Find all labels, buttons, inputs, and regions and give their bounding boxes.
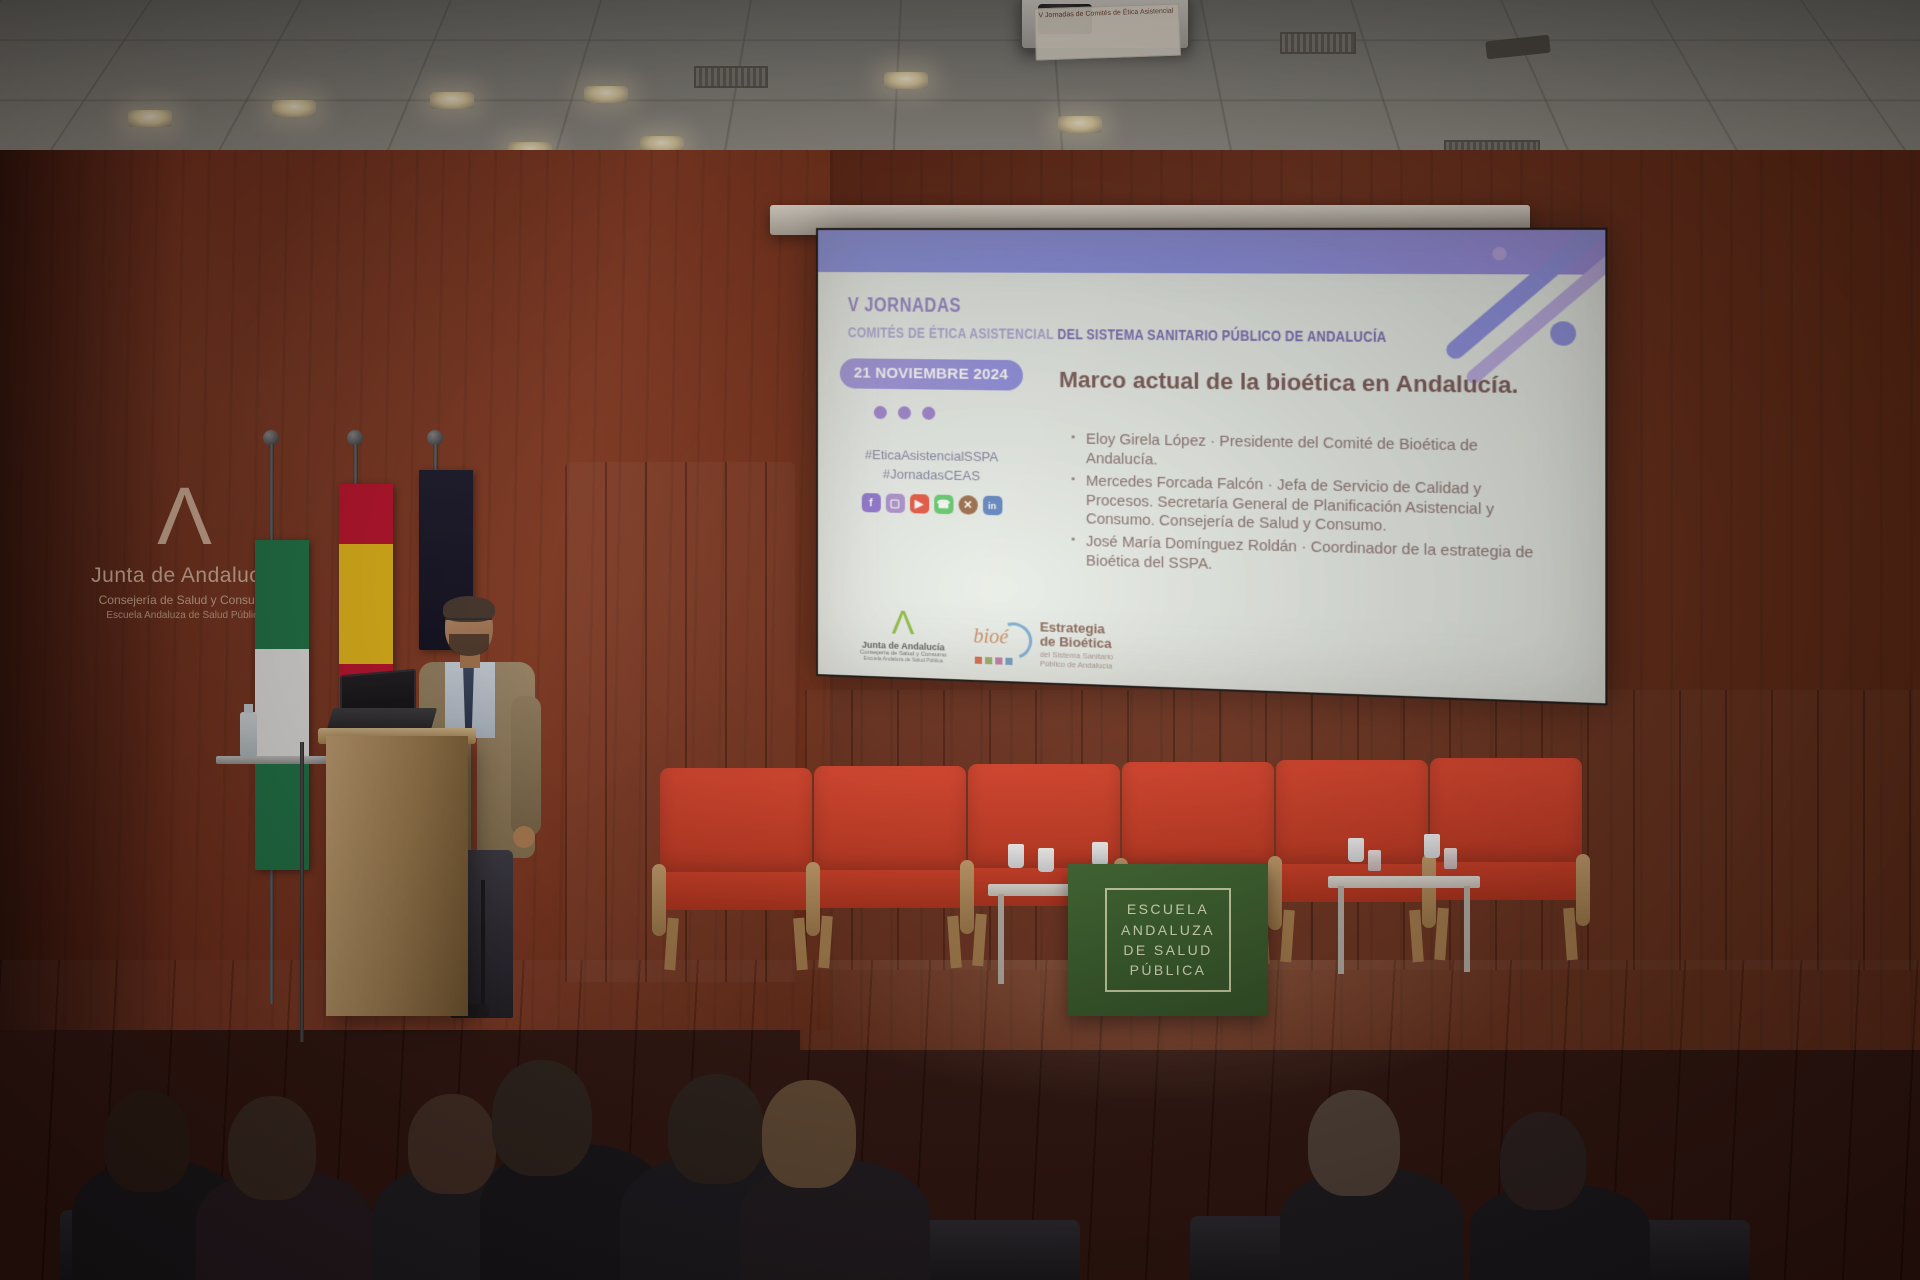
list-item: Mercedes Forcada Falcón · Jefa de Servic… [1071, 472, 1533, 541]
slide-subtitle-light: COMITÉS DE ÉTICA ASISTENCIAL [848, 324, 1054, 343]
sign-line-1: ESCUELA [1121, 899, 1215, 919]
ceiling-light-5 [884, 72, 928, 89]
slide-heading: Marco actual de la bioética en Andalucía… [1059, 367, 1531, 401]
slide-dot-1 [874, 406, 887, 419]
facebook-icon: f [861, 493, 880, 513]
ceiling-light-2 [272, 100, 316, 117]
water-bottle [240, 712, 257, 758]
stage-chair-2 [806, 766, 974, 956]
slide-decoration [1416, 230, 1605, 390]
audience-head-8 [1500, 1112, 1586, 1210]
chair-arm-right [1576, 854, 1590, 926]
slide-dot-row [874, 406, 935, 420]
linkedin-icon: in [982, 496, 1001, 516]
slide-subtitle-dark: DEL SISTEMA SANITARIO PÚBLICO DE ANDALUC… [1057, 326, 1386, 346]
mic-shelf [216, 756, 328, 764]
side-table-right-leg-2 [1464, 886, 1470, 972]
instagram-icon: ▢ [885, 494, 904, 514]
speaker-hand [513, 826, 535, 848]
slide-dot-2 [898, 406, 911, 419]
chair-arm-left [960, 860, 974, 932]
slide-social-icons: f ▢ ▶ ☎ ✕ in [840, 493, 1024, 516]
projector-label: V Jornadas de Comités de Ética Asistenci… [1034, 3, 1181, 60]
lectern-shading [326, 736, 468, 1016]
deco-dot-large [1550, 321, 1576, 346]
slide-date-badge: 21 NOVIEMBRE 2024 [840, 358, 1023, 390]
slide-subtitle: COMITÉS DE ÉTICA ASISTENCIAL DEL SISTEMA… [848, 324, 1387, 346]
ceiling-light-1 [128, 110, 172, 127]
water-cup-2 [1038, 848, 1054, 872]
audience-head-6 [762, 1080, 856, 1188]
deco-bar-2 [1464, 230, 1605, 387]
water-cup-1 [1008, 844, 1024, 868]
water-cup-5 [1424, 834, 1440, 858]
ceiling-light-6 [1058, 116, 1102, 133]
slide-title: V JORNADAS [848, 294, 961, 318]
bioetica-square-2 [985, 657, 992, 664]
side-table-right-leg-1 [1338, 886, 1344, 974]
bioetica-square-4 [1006, 658, 1013, 665]
slide-speaker-list: Eloy Girela López · Presidente del Comit… [1071, 430, 1533, 587]
water-cup-3 [1092, 842, 1108, 866]
stage-chair-1 [652, 768, 820, 958]
auditorium-photo: V Jornadas de Comités de Ética Asistenci… [0, 0, 1920, 1280]
bioetica-line4: Público de Andalucía [1040, 659, 1113, 671]
junta-mark-icon: Λ [860, 607, 947, 641]
junta-logo: Λ Junta de Andalucía Consejería de Salud… [860, 607, 947, 665]
deco-dot-small [1492, 247, 1506, 261]
audience [0, 980, 1920, 1280]
speaker-arm-right [511, 696, 541, 836]
speaker-beard [449, 634, 489, 656]
bioetica-squares-icon [975, 657, 1013, 665]
x-twitter-icon: ✕ [958, 495, 977, 515]
chair-seat [656, 872, 816, 910]
audience-head-3 [408, 1094, 496, 1194]
bioetica-square-3 [996, 658, 1003, 665]
chair-back [814, 766, 966, 874]
sign-line-2: ANDALUZA [1121, 920, 1215, 940]
youtube-icon: ▶ [909, 494, 928, 514]
audience-head-2 [228, 1096, 316, 1200]
audience-head-4 [492, 1060, 592, 1176]
ceiling-vent-2 [694, 66, 768, 88]
lectern-sign-text: ESCUELA ANDALUZA DE SALUD PÚBLICA [1105, 888, 1231, 991]
chair-back [1122, 762, 1274, 870]
projection-screen: V JORNADAS COMITÉS DE ÉTICA ASISTENCIAL … [816, 228, 1608, 706]
audience-head-5 [668, 1074, 764, 1184]
chair-arm-left [806, 862, 820, 934]
ceiling-light-4 [584, 86, 628, 103]
water-glass-2 [1444, 848, 1457, 869]
chair-arm-left [1268, 856, 1282, 928]
side-table-right [1328, 876, 1480, 888]
ceiling-vent-5 [1280, 32, 1356, 54]
bioetica-logo: bioé Estrategia de Bioética del Sistema … [973, 618, 1113, 671]
list-item: José María Domínguez Roldán · Coordinado… [1071, 533, 1533, 584]
hashtag-1: #EticaAsistencialSSPA [836, 445, 1028, 468]
bioetica-wordmark: bioé [973, 626, 1008, 651]
bioetica-square-1 [975, 657, 982, 664]
ceiling-light-3 [430, 92, 474, 109]
slide-dot-3 [922, 407, 935, 420]
presentation-slide: V JORNADAS COMITÉS DE ÉTICA ASISTENCIAL … [818, 230, 1605, 704]
audience-head-7 [1308, 1090, 1400, 1196]
speaker-glasses [446, 618, 492, 628]
sign-line-4: PÚBLICA [1121, 960, 1215, 980]
water-cup-4 [1348, 838, 1364, 862]
chair-arm-left [1422, 854, 1436, 926]
whatsapp-icon: ☎ [934, 495, 953, 515]
hashtag-2: #JornadasCEAS [836, 464, 1028, 487]
chair-seat [810, 870, 970, 908]
chair-arm-left [652, 864, 666, 936]
side-table-left-leg-1 [998, 894, 1004, 984]
list-item: Eloy Girela López · Presidente del Comit… [1071, 430, 1533, 477]
water-glass-1 [1368, 850, 1381, 871]
sign-line-3: DE SALUD [1121, 940, 1215, 960]
slide-logo-row: Λ Junta de Andalucía Consejería de Salud… [860, 607, 1113, 671]
slide-hashtags: #EticaAsistencialSSPA #JornadasCEAS [836, 445, 1028, 487]
chair-back [660, 768, 812, 876]
bioetica-text: Estrategia de Bioética del Sistema Sanit… [1040, 620, 1113, 671]
laptop-keyboard [327, 708, 437, 730]
bioetica-mark-icon: bioé [973, 620, 1032, 667]
audience-head-1 [104, 1090, 190, 1192]
